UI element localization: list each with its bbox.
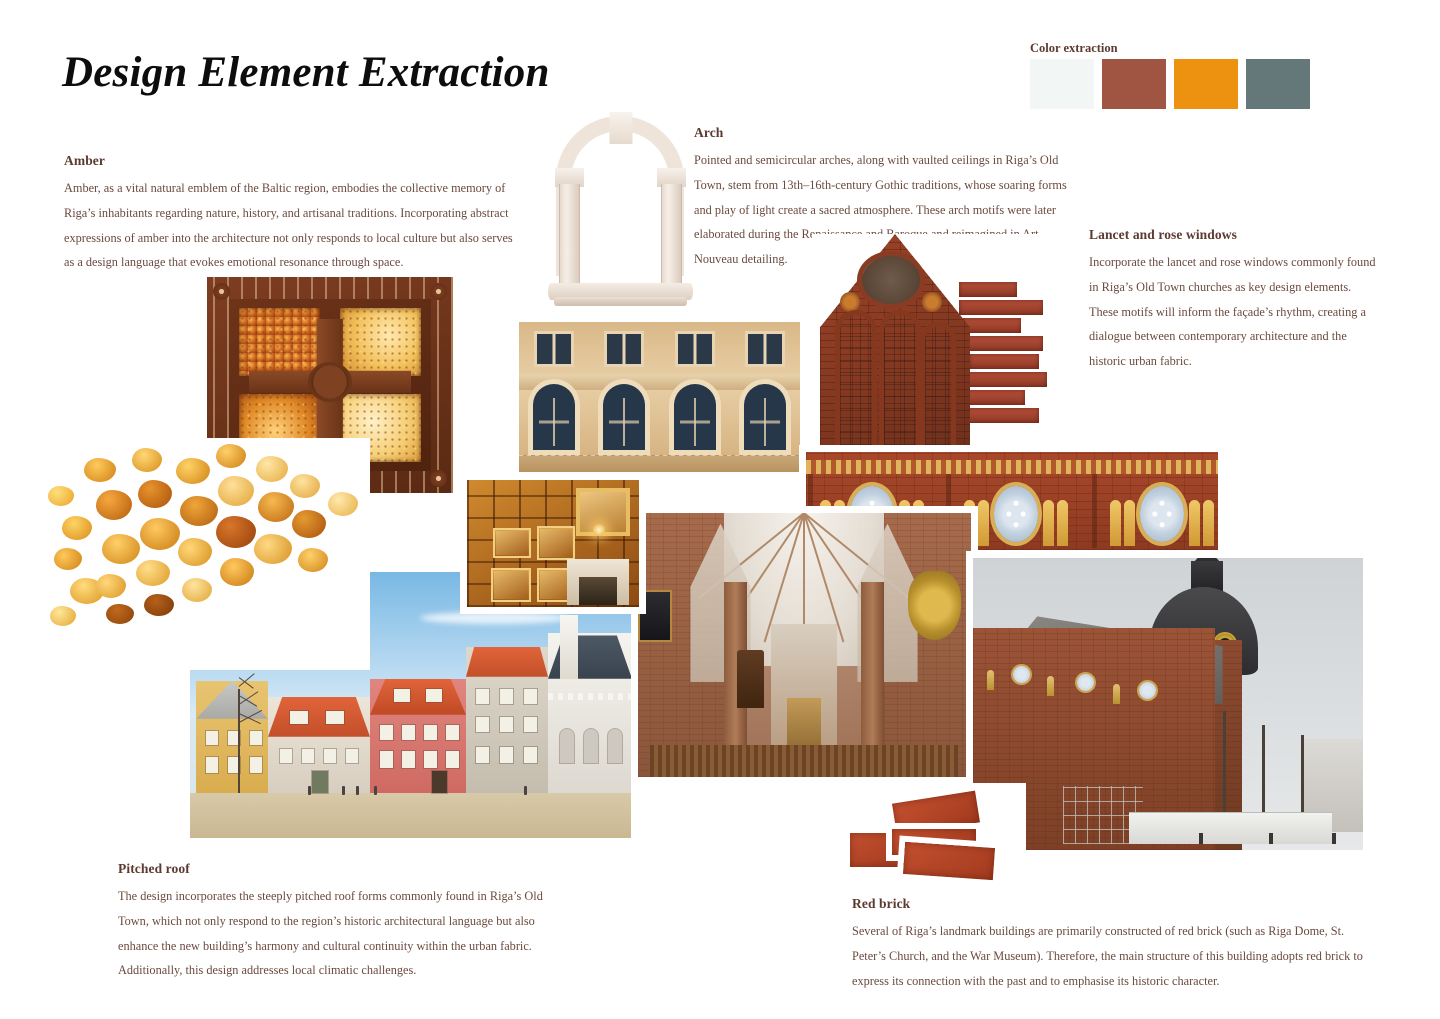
interior-pulpit xyxy=(737,650,764,708)
oldtown-building-pink xyxy=(370,679,466,793)
amber-stone xyxy=(258,492,294,522)
oldtown-turret xyxy=(560,615,578,679)
oldtown-roof-pitched xyxy=(370,679,466,715)
brickband-lancet-pair xyxy=(1189,500,1214,546)
oldtown-window xyxy=(206,731,218,745)
oldtown-window xyxy=(424,751,437,768)
amber-room-lamp xyxy=(593,524,605,536)
brickband-corbel-cornice xyxy=(806,460,1218,474)
oldtown-window-gothic xyxy=(608,729,622,763)
arch-column-right xyxy=(661,184,682,289)
amber-stone xyxy=(180,496,218,526)
image-white-arch-element xyxy=(548,112,693,310)
oldtown-window xyxy=(380,725,393,740)
swatch-off-white xyxy=(1030,59,1094,109)
cathedral-nave-window xyxy=(1113,684,1120,704)
oldtown-pedestrian xyxy=(342,786,345,795)
amber-room-picture-frame xyxy=(491,568,531,602)
amber-stone xyxy=(140,518,180,550)
cathedral-nave-window xyxy=(987,670,994,690)
oldtown-door xyxy=(312,771,328,793)
facade-window-arched xyxy=(603,384,645,450)
cathedral-bare-tree xyxy=(1223,711,1226,821)
amber-stone xyxy=(96,574,126,598)
oldtown-window xyxy=(476,747,489,763)
oldtown-window xyxy=(402,751,415,768)
amber-panel-rosette xyxy=(430,470,447,487)
brickband-lancet-pair xyxy=(1110,500,1135,546)
brickband-lancet-pair xyxy=(1043,500,1068,546)
amber-panel-rosette xyxy=(213,283,230,300)
oldtown-building-yellow xyxy=(196,681,268,793)
cathedral-bare-tree xyxy=(1301,735,1304,821)
arch-keystone xyxy=(609,112,632,144)
section-amber-body: Amber, as a vital natural emblem of the … xyxy=(64,176,514,275)
image-church-interior-nave xyxy=(637,513,971,777)
section-red-brick: Red brick Several of Riga’s landmark bui… xyxy=(852,896,1372,993)
interior-vault-rib xyxy=(764,513,805,642)
swatch-terracotta-red xyxy=(1102,59,1166,109)
cathedral-rose-window xyxy=(1077,674,1094,691)
amber-stone xyxy=(176,458,210,484)
oldtown-roof-pitched xyxy=(466,647,548,677)
cathedral-rose-window xyxy=(1139,682,1156,699)
color-extraction-label: Color extraction xyxy=(1030,41,1118,56)
swatch-amber-orange xyxy=(1174,59,1238,109)
oldtown-window xyxy=(250,731,262,745)
amber-stone xyxy=(62,516,92,540)
amber-room-picture-frame xyxy=(493,528,531,558)
oldtown-roof-pitched xyxy=(268,697,370,737)
lancet-oculus xyxy=(862,256,920,304)
amber-stone xyxy=(292,510,326,538)
amber-stone xyxy=(216,516,256,548)
oldtown-window-gothic xyxy=(560,729,574,763)
amber-stone xyxy=(220,558,254,586)
image-amber-stones-cluster xyxy=(40,438,370,670)
image-riga-dome-cathedral xyxy=(973,558,1363,850)
oldtown-window xyxy=(446,725,459,740)
facade-window-small xyxy=(748,334,782,364)
oldtown-window xyxy=(324,749,336,763)
section-lancet: Lancet and rose windows Incorporate the … xyxy=(1089,227,1379,374)
amber-stone xyxy=(84,458,116,482)
oldtown-cloud xyxy=(420,612,570,624)
amber-stone xyxy=(138,480,172,508)
image-gothic-lancet-window xyxy=(812,234,1047,449)
brickband-pier xyxy=(1092,474,1097,548)
facade-window-small xyxy=(678,334,712,364)
amber-stone xyxy=(132,448,162,472)
section-pitched-roof-heading: Pitched roof xyxy=(118,861,558,877)
oldtown-dormer xyxy=(394,689,410,702)
oldtown-window xyxy=(250,757,262,773)
cathedral-visitor xyxy=(1199,833,1203,844)
lancet-brick xyxy=(963,318,1021,333)
facade-arched-windows xyxy=(519,384,800,456)
amber-stone xyxy=(48,486,74,506)
oldtown-crenellation xyxy=(548,693,631,700)
cathedral-bare-tree xyxy=(1262,725,1265,821)
cathedral-rose-window xyxy=(1013,666,1030,683)
lancet-brick-courses xyxy=(959,282,1047,442)
oldtown-window xyxy=(524,689,537,704)
interior-portrait-painting xyxy=(640,592,670,640)
amber-room-fireplace xyxy=(567,559,629,605)
lancet-light xyxy=(925,327,951,445)
oldtown-pedestrian xyxy=(356,786,359,795)
oldtown-window xyxy=(424,725,437,740)
oldtown-window xyxy=(476,689,489,704)
amber-stone xyxy=(106,604,134,624)
oldtown-window xyxy=(476,717,489,732)
swatch-slate-green xyxy=(1246,59,1310,109)
brickband-bay xyxy=(1110,480,1214,546)
amber-stone xyxy=(216,444,246,468)
facade-window-arched xyxy=(744,384,786,450)
oldtown-window xyxy=(346,749,358,763)
amber-panel-rosette xyxy=(430,283,447,300)
image-amber-room-interior xyxy=(467,480,639,607)
section-red-brick-body: Several of Riga’s landmark buildings are… xyxy=(852,919,1372,993)
lancet-brick xyxy=(959,336,1043,351)
lancet-light xyxy=(840,315,872,445)
arch-column-left xyxy=(559,184,580,289)
brickband-rose-window xyxy=(994,486,1038,542)
oldtown-window xyxy=(446,751,459,768)
section-red-brick-heading: Red brick xyxy=(852,896,1372,912)
amber-stone xyxy=(144,594,174,616)
amber-stone xyxy=(256,456,288,482)
arch-plinth xyxy=(554,297,687,306)
oldtown-window xyxy=(402,725,415,740)
oldtown-window-gothic xyxy=(584,729,598,763)
oldtown-dormer xyxy=(290,711,308,724)
section-arch-heading: Arch xyxy=(694,125,1072,141)
oldtown-building-grey xyxy=(466,647,548,793)
cathedral-site-hoarding xyxy=(1129,812,1332,844)
lancet-brick xyxy=(959,408,1039,423)
section-lancet-heading: Lancet and rose windows xyxy=(1089,227,1379,243)
amber-room-picture-frame xyxy=(537,526,575,560)
oldtown-pedestrian xyxy=(374,786,377,795)
oldtown-window xyxy=(500,747,513,763)
section-pitched-roof-body: The design incorporates the steeply pitc… xyxy=(118,884,558,983)
amber-stone xyxy=(298,548,328,572)
lancet-trefoil-left xyxy=(840,292,860,312)
cathedral-nave-window xyxy=(1047,676,1054,696)
oldtown-window xyxy=(302,749,314,763)
brickband-bay xyxy=(964,480,1068,546)
section-pitched-roof: Pitched roof The design incorporates the… xyxy=(118,861,558,983)
oldtown-window xyxy=(380,751,393,768)
amber-stone xyxy=(178,538,212,566)
oldtown-dormer xyxy=(326,711,344,724)
facade-window-arched xyxy=(674,384,716,450)
oldtown-window xyxy=(500,717,513,732)
brickband-rose-window xyxy=(1140,486,1184,542)
facade-base xyxy=(519,456,800,472)
oldtown-window xyxy=(206,757,218,773)
oldtown-window xyxy=(500,689,513,704)
cathedral-visitor xyxy=(1332,833,1336,844)
facade-window-small xyxy=(607,334,641,364)
facade-window-arched xyxy=(533,384,575,450)
oldtown-window xyxy=(524,747,537,763)
oldtown-building-cream xyxy=(268,697,370,793)
lancet-brick xyxy=(965,390,1025,405)
amber-stone xyxy=(136,560,170,586)
oldtown-door xyxy=(432,771,447,793)
section-lancet-body: Incorporate the lancet and rose windows … xyxy=(1089,250,1379,374)
amber-stone xyxy=(54,548,82,570)
amber-stone xyxy=(182,578,212,602)
facade-window-small xyxy=(537,334,571,364)
amber-stone xyxy=(102,534,140,564)
page-title: Design Element Extraction xyxy=(62,48,550,97)
image-neoclassical-facade xyxy=(519,322,800,472)
lancet-light xyxy=(884,315,916,445)
lancet-brick xyxy=(959,300,1043,315)
lancet-trefoil-right xyxy=(922,292,942,312)
section-amber: Amber Amber, as a vital natural emblem o… xyxy=(64,153,514,275)
amber-stone xyxy=(218,476,254,506)
oldtown-building-gothic-white xyxy=(548,633,631,793)
oldtown-window xyxy=(280,749,292,763)
brick xyxy=(903,842,995,880)
lancet-brick xyxy=(959,282,1017,297)
mood-board: Design Element Extraction Color extracti… xyxy=(0,0,1440,1019)
oldtown-plaza-ground xyxy=(190,793,631,838)
lancet-brick xyxy=(959,372,1047,387)
color-extraction-swatches xyxy=(1030,59,1310,109)
amber-panel-quadrant xyxy=(239,308,320,377)
oldtown-window xyxy=(524,717,537,732)
amber-stone xyxy=(328,492,358,516)
amber-stone xyxy=(290,474,320,498)
oldtown-pedestrian xyxy=(308,786,311,795)
amber-panel-quadrant xyxy=(340,308,421,377)
oldtown-dormer xyxy=(426,689,442,702)
amber-stone xyxy=(254,534,292,564)
cathedral-visitor xyxy=(1269,833,1273,844)
amber-stone xyxy=(50,606,76,626)
interior-heraldic-crest xyxy=(908,571,961,640)
oldtown-pedestrian xyxy=(524,786,527,795)
amber-stone xyxy=(96,490,132,520)
image-red-bricks-stack xyxy=(848,783,1026,883)
interior-pews xyxy=(650,745,957,777)
lancet-brick xyxy=(969,354,1039,369)
amber-panel-medallion xyxy=(308,362,352,402)
facade-upper-windows xyxy=(519,328,800,370)
section-amber-heading: Amber xyxy=(64,153,514,169)
interior-vault-rib xyxy=(803,513,844,642)
